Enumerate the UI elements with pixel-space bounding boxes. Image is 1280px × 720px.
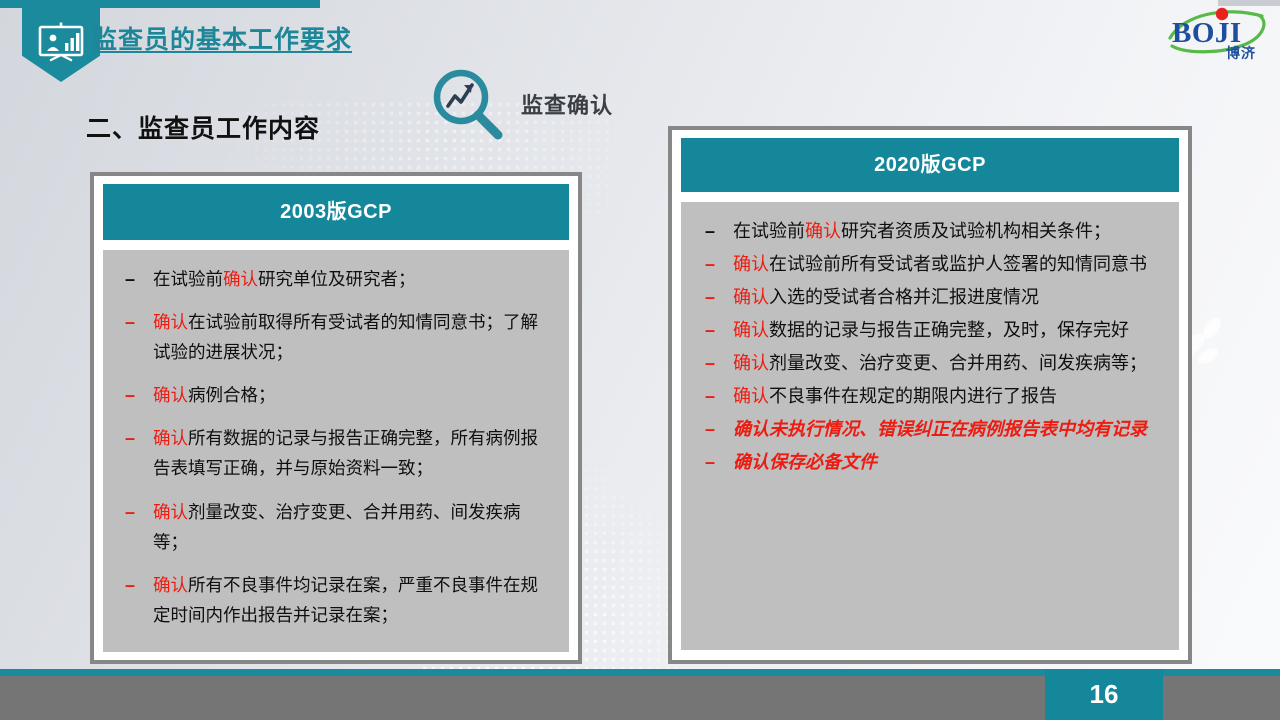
slide-canvas: 监查员的基本工作要求 BOJI 博济 二、监查员工作内容 监查确认 2003版G… xyxy=(0,0,1280,720)
panel-gcp-2020: 2020版GCP –在试验前确认研究者资质及试验机构相关条件；–确认在试验前所有… xyxy=(668,126,1192,664)
list-item-text: 研究者资质及试验机构相关条件； xyxy=(841,221,1111,241)
list-item-text: 在试验前取得所有受试者的知情同意书；了解试验的进展状况； xyxy=(153,312,538,362)
section-heading: 二、监查员工作内容 xyxy=(86,109,320,145)
list-item-text: 确认 xyxy=(733,254,769,274)
list-item-text: 确认 xyxy=(223,269,258,289)
boji-logo: BOJI 博济 xyxy=(1164,2,1272,64)
list-item: –确认未执行情况、错误纠正在病例报告表中均有记录 xyxy=(691,416,1163,443)
list-item-text: 在试验前 xyxy=(733,221,805,241)
list-item-text: 确认 xyxy=(153,428,188,448)
list-item-text: 确认未执行情况、错误纠正在病例报告表中均有记录 xyxy=(733,419,1147,439)
list-item-text: 在试验前 xyxy=(153,269,223,289)
bullet-dash-icon: – xyxy=(705,284,715,311)
bullet-dash-icon: – xyxy=(125,264,135,295)
list-item: –确认所有不良事件均记录在案，严重不良事件在规定时间内作出报告并记录在案； xyxy=(111,570,555,630)
panel-header-gcp-2020: 2020版GCP xyxy=(681,138,1179,192)
panel-body-gcp-2020: –在试验前确认研究者资质及试验机构相关条件；–确认在试验前所有受试者或监护人签署… xyxy=(681,202,1179,650)
list-item-text: 确认保存必备文件 xyxy=(733,452,877,472)
page-title: 监查员的基本工作要求 xyxy=(92,20,352,56)
bullet-dash-icon: – xyxy=(705,350,715,377)
list-item-text: 确认 xyxy=(153,385,188,405)
list-item-text: 入选的受试者合格并汇报进度情况 xyxy=(769,287,1039,307)
list-item-text: 不良事件在规定的期限内进行了报告 xyxy=(769,386,1057,406)
bullet-dash-icon: – xyxy=(705,317,715,344)
magnifier-chart-icon xyxy=(428,66,506,144)
bullet-list-gcp-2020: –在试验前确认研究者资质及试验机构相关条件；–确认在试验前所有受试者或监护人签署… xyxy=(691,218,1163,476)
list-item-text: 确认 xyxy=(153,575,188,595)
svg-text:博济: 博济 xyxy=(1226,45,1256,61)
list-item-text: 确认 xyxy=(733,386,769,406)
list-item-text: 确认 xyxy=(153,312,188,332)
bullet-dash-icon: – xyxy=(705,416,715,443)
bullet-list-gcp-2003: –在试验前确认研究单位及研究者；–确认在试验前取得所有受试者的知情同意书；了解试… xyxy=(111,264,555,630)
list-item-text: 所有不良事件均记录在案，严重不良事件在规定时间内作出报告并记录在案； xyxy=(153,575,538,625)
list-item-text: 确认 xyxy=(733,287,769,307)
list-item: –确认数据的记录与报告正确完整，及时，保存完好 xyxy=(691,317,1163,344)
list-item: –确认在试验前所有受试者或监护人签署的知情同意书 xyxy=(691,251,1163,278)
list-item-text: 所有数据的记录与报告正确完整，所有病例报告表填写正确，并与原始资料一致； xyxy=(153,428,538,478)
panel-header-gcp-2003: 2003版GCP xyxy=(103,184,569,240)
magnifier-label: 监查确认 xyxy=(521,88,613,120)
list-item-text: 剂量改变、治疗变更、合并用药、间发疾病等； xyxy=(769,353,1147,373)
list-item-text: 确认 xyxy=(733,320,769,340)
list-item: –确认入选的受试者合格并汇报进度情况 xyxy=(691,284,1163,311)
list-item: –确认所有数据的记录与报告正确完整，所有病例报告表填写正确，并与原始资料一致； xyxy=(111,423,555,483)
list-item: –确认保存必备文件 xyxy=(691,449,1163,476)
list-item: –在试验前确认研究者资质及试验机构相关条件； xyxy=(691,218,1163,245)
list-item-text: 确认 xyxy=(153,502,188,522)
bullet-dash-icon: – xyxy=(125,423,135,454)
panel-body-gcp-2003: –在试验前确认研究单位及研究者；–确认在试验前取得所有受试者的知情同意书；了解试… xyxy=(103,250,569,652)
list-item-text: 病例合格； xyxy=(188,385,276,405)
list-item-text: 研究单位及研究者； xyxy=(258,269,416,289)
bullet-dash-icon: – xyxy=(125,380,135,411)
presentation-chart-icon xyxy=(36,22,86,62)
list-item: –确认剂量改变、治疗变更、合并用药、间发疾病等； xyxy=(691,350,1163,377)
list-item-text: 数据的记录与报告正确完整，及时，保存完好 xyxy=(769,320,1129,340)
list-item: –在试验前确认研究单位及研究者； xyxy=(111,264,555,294)
list-item-text: 确认 xyxy=(733,353,769,373)
list-item: –确认病例合格； xyxy=(111,380,555,410)
bullet-dash-icon: – xyxy=(125,307,135,338)
list-item-text: 在试验前所有受试者或监护人签署的知情同意书 xyxy=(769,254,1147,274)
panel-gcp-2003: 2003版GCP –在试验前确认研究单位及研究者；–确认在试验前取得所有受试者的… xyxy=(90,172,582,664)
bullet-dash-icon: – xyxy=(705,251,715,278)
bullet-dash-icon: – xyxy=(705,218,715,245)
list-item-text: 确认 xyxy=(805,221,841,241)
list-item-text: 剂量改变、治疗变更、合并用药、间发疾病等； xyxy=(153,502,521,552)
bullet-dash-icon: – xyxy=(125,570,135,601)
list-item: –确认剂量改变、治疗变更、合并用药、间发疾病等； xyxy=(111,497,555,557)
page-number-badge: 16 xyxy=(1045,669,1163,720)
list-item: –确认不良事件在规定的期限内进行了报告 xyxy=(691,383,1163,410)
bullet-dash-icon: – xyxy=(125,497,135,528)
bullet-dash-icon: – xyxy=(705,383,715,410)
title-divider-rule xyxy=(86,12,89,54)
bullet-dash-icon: – xyxy=(705,449,715,476)
list-item: –确认在试验前取得所有受试者的知情同意书；了解试验的进展状况； xyxy=(111,307,555,367)
